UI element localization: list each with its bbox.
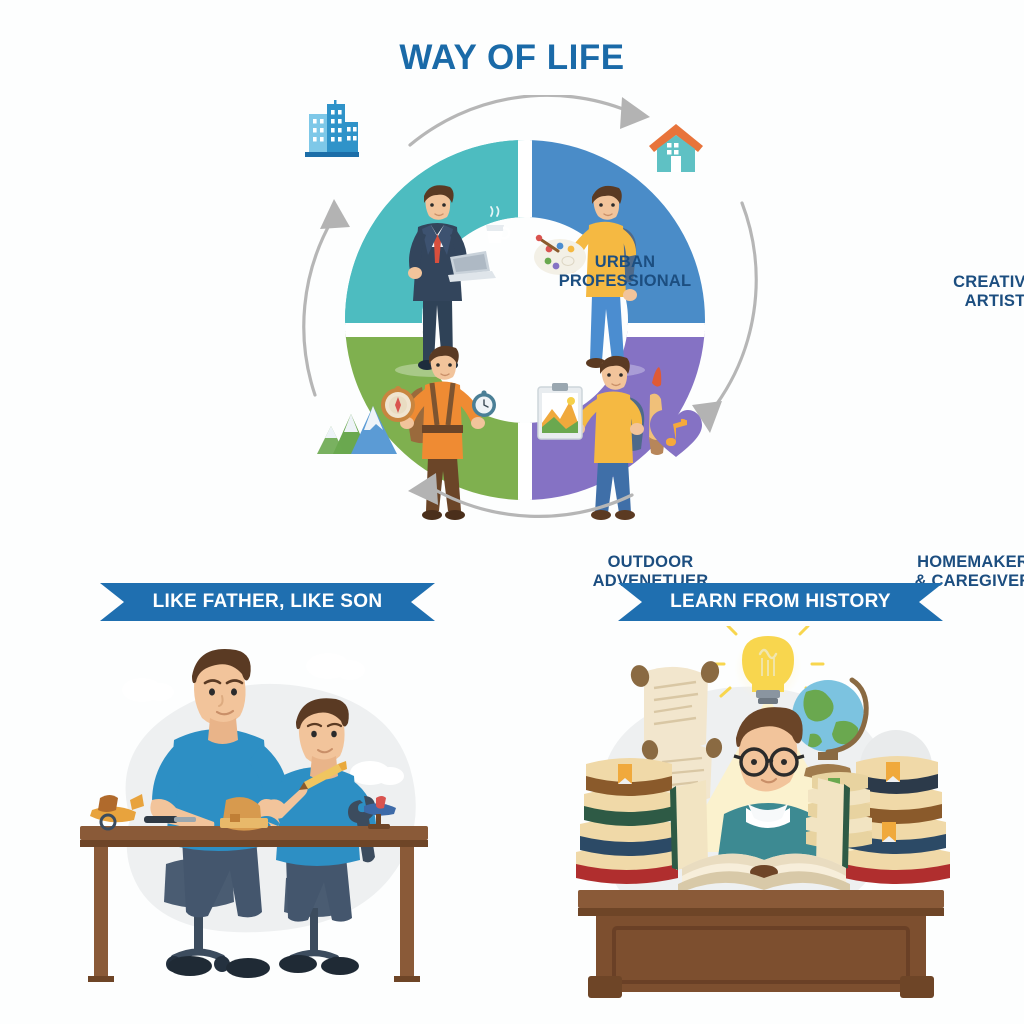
screwdriver-icon xyxy=(144,816,196,823)
infographic-page: WAY OF LIFE xyxy=(0,0,1024,1024)
banner-learn-from-history: LEARN FROM HISTORY xyxy=(618,583,943,621)
mountain-icon xyxy=(313,400,399,461)
quadrant-label-urban-professional: URBAN PROFESSIONAL xyxy=(535,253,715,292)
clipboard-drawing-icon xyxy=(538,383,582,439)
scene-father-and-son-at-workbench xyxy=(70,628,460,1013)
house-icon xyxy=(648,122,704,179)
heart-music-note-icon xyxy=(648,408,704,465)
banner-like-father-like-son: LIKE FATHER, LIKE SON xyxy=(100,583,435,621)
banner-text-left: LIKE FATHER, LIKE SON xyxy=(100,583,435,621)
gap-horizontal xyxy=(320,323,730,337)
page-title: WAY OF LIFE xyxy=(0,38,1024,78)
study-desk xyxy=(578,890,944,998)
banner-text-right: LEARN FROM HISTORY xyxy=(618,583,943,621)
pocket-watch-icon xyxy=(472,390,496,417)
quadrant-label-creative-artist: CREATIVE ARTIST xyxy=(910,273,1024,312)
scene-boy-reading-at-desk xyxy=(556,626,966,1011)
upright-book-right xyxy=(816,778,850,870)
upright-book-left xyxy=(670,780,708,870)
city-buildings-icon xyxy=(296,100,362,165)
book-stack-left xyxy=(576,758,678,884)
